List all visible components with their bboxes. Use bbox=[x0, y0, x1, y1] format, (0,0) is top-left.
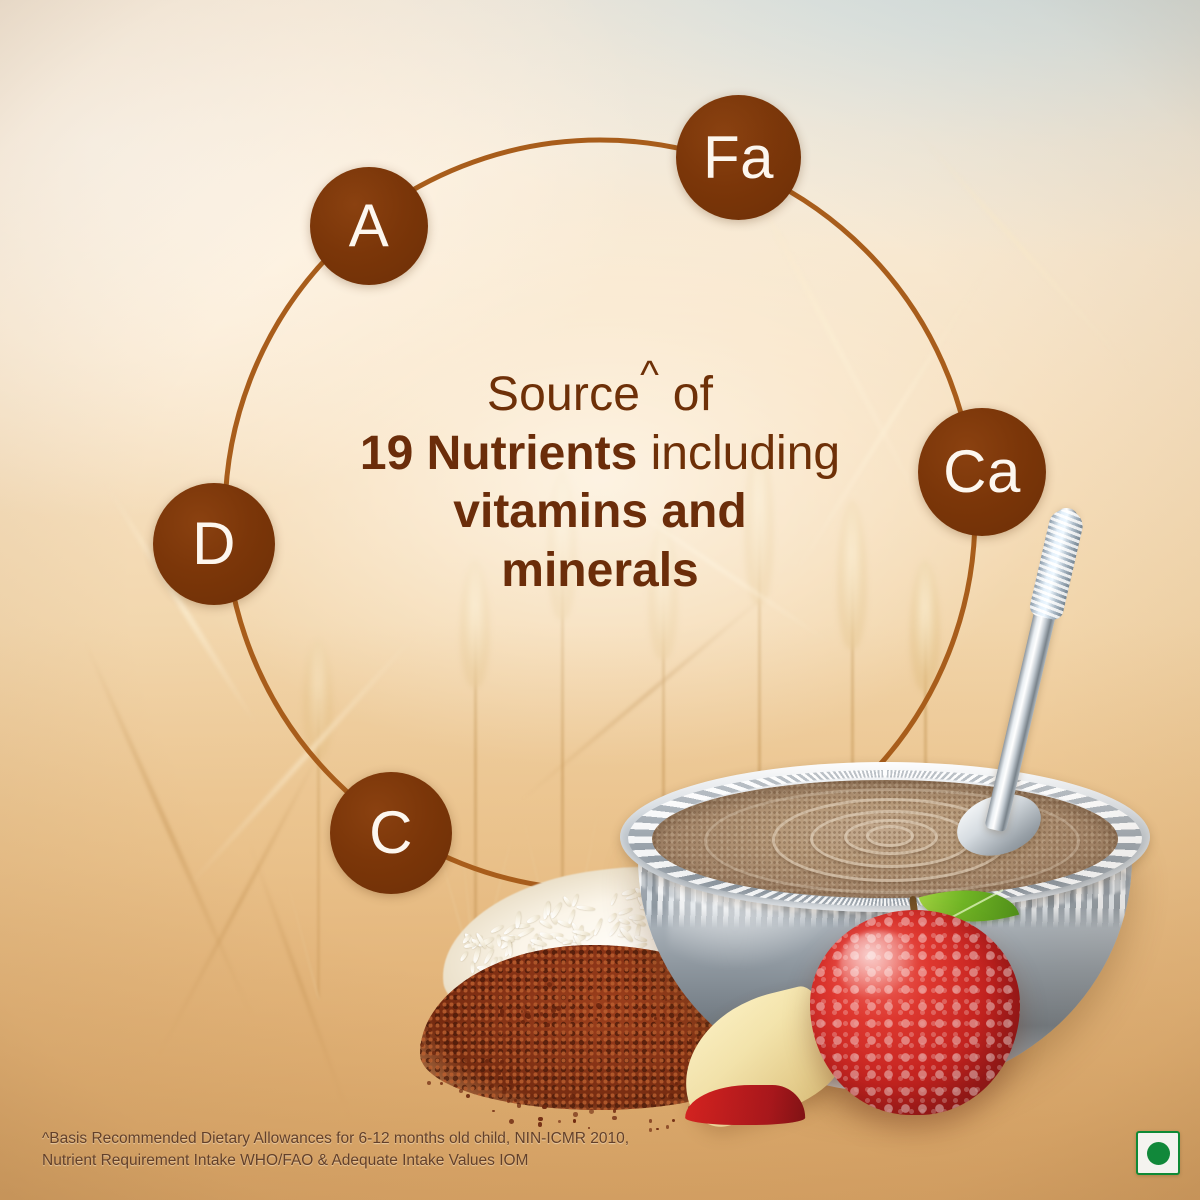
background-vignette bbox=[0, 0, 1200, 1200]
disclaimer-text: ^Basis Recommended Dietary Allowances fo… bbox=[42, 1128, 802, 1172]
vegetarian-mark-icon bbox=[1136, 1131, 1180, 1175]
vegetarian-dot bbox=[1147, 1142, 1170, 1165]
disclaimer-line-2: Nutrient Requirement Intake WHO/FAO & Ad… bbox=[42, 1150, 802, 1172]
disclaimer-line-1: ^Basis Recommended Dietary Allowances fo… bbox=[42, 1128, 802, 1150]
promo-banner: AFaCaDC Source^ of 19 Nutrients includin… bbox=[0, 0, 1200, 1200]
